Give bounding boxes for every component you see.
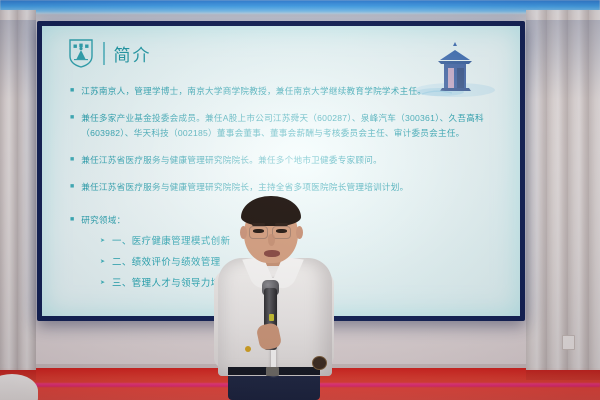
speaker-person — [214, 196, 336, 400]
curtain-left-shading — [0, 20, 36, 380]
photograph-scene: 简介 ■ 江苏南京人，管理学博士，南京大学商学院教授，兼任南京大学继续教育学院学… — [0, 0, 600, 400]
curtain-right — [526, 10, 600, 370]
bullet-square-icon: ■ — [70, 213, 74, 227]
bullet-item: ■ 兼任江苏省医疗服务与健康管理研究院院长，主持全省多项医院院长管理培训计划。 — [70, 180, 494, 195]
bullet-square-icon: ■ — [70, 153, 74, 167]
section-label: 研究领域： — [81, 213, 125, 228]
slide-title: 简介 — [114, 41, 152, 66]
bullet-text: 兼任江苏省医疗服务与健康管理研究院院长。兼任多个地市卫健委专家顾问。 — [81, 153, 382, 168]
list-item-label: 三、管理人才与领导力培养 — [112, 276, 231, 290]
curtain-left — [0, 10, 36, 370]
bullet-item: ■ 江苏南京人，管理学博士，南京大学商学院教授，兼任南京大学继续教育学院学术主任… — [70, 84, 494, 99]
eyeglasses-left-lens — [249, 226, 268, 239]
ear-right — [296, 226, 303, 239]
bullet-text: 江苏南京人，管理学博士，南京大学商学院教授，兼任南京大学继续教育学院学术主任。 — [81, 84, 426, 99]
wall-outlet — [562, 335, 575, 350]
bullet-text: 兼任江苏省医疗服务与健康管理研究院院长，主持全省多项医院院长管理培训计划。 — [81, 180, 408, 195]
hair — [241, 196, 301, 226]
chevron-right-icon: ➤ — [100, 255, 105, 269]
ceiling-led-strip — [0, 0, 600, 14]
chevron-right-icon: ➤ — [100, 276, 105, 290]
nose — [268, 234, 275, 246]
curtain-right-shading — [526, 20, 600, 380]
microphone-led-indicator — [269, 314, 274, 321]
chevron-right-icon: ➤ — [100, 234, 105, 248]
mouth — [264, 250, 280, 257]
bullet-item: ■ 兼任多家产业基金投委会成员。兼任A股上市公司江苏舜天（600287）、泉峰汽… — [70, 111, 494, 141]
belt-buckle — [266, 367, 279, 376]
ear-left — [240, 226, 247, 239]
bullet-item: ■ 兼任江苏省医疗服务与健康管理研究院院长。兼任多个地市卫健委专家顾问。 — [70, 153, 494, 168]
lapel-badge — [245, 346, 251, 352]
bullet-square-icon: ■ — [70, 84, 74, 98]
list-item-label: 一、医疗健康管理模式创新 — [112, 234, 231, 248]
wristwatch — [312, 356, 327, 370]
slide-header: 简介 — [68, 38, 152, 68]
list-item-label: 二、绩效评价与绩效管理 — [112, 255, 221, 269]
bullet-square-icon: ■ — [70, 111, 74, 125]
bullet-square-icon: ■ — [70, 180, 74, 194]
university-crest-icon — [68, 38, 94, 68]
bullet-text: 兼任多家产业基金投委会成员。兼任A股上市公司江苏舜天（600287）、泉峰汽车（… — [81, 111, 494, 141]
header-divider — [103, 42, 105, 65]
